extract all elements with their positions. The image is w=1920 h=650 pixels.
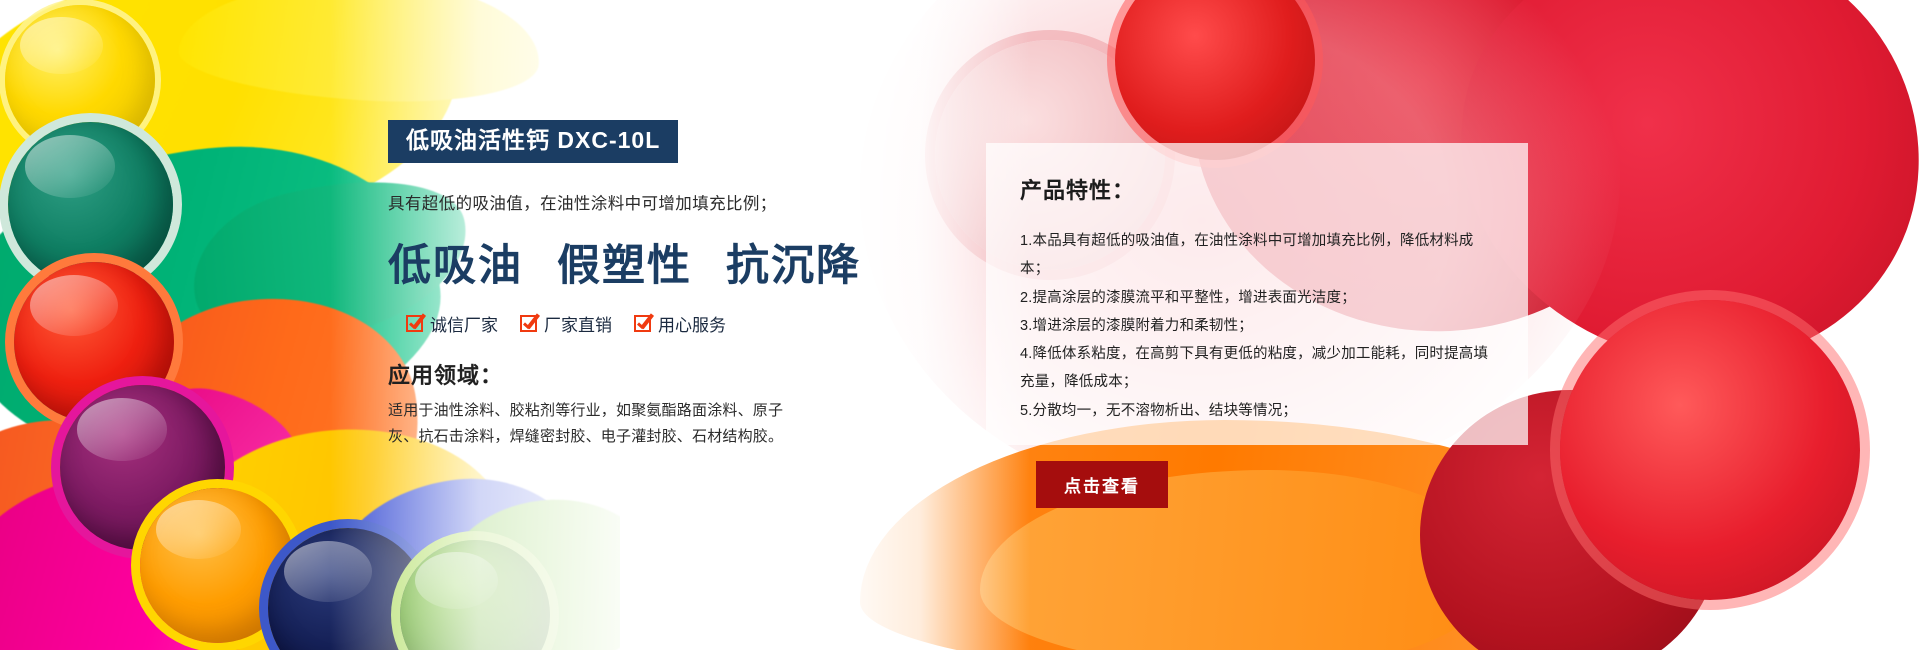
product-features-panel: 产品特性： 1.本品具有超低的吸油值，在油性涂料中可增加填充比例，降低材料成本；…	[986, 143, 1528, 445]
application-field-description: 适用于油性涂料、胶粘剂等行业，如聚氨酯路面涂料、原子灰、抗石击涂料，焊缝密封胶、…	[388, 398, 788, 451]
headline-word-1: 低吸油	[388, 241, 523, 291]
feature-item: 3.增进涂层的漆膜附着力和柔韧性；	[1020, 312, 1494, 340]
headline-word-3: 抗沉降	[726, 241, 861, 291]
features-panel-title: 产品特性：	[1020, 173, 1494, 205]
view-details-button[interactable]: 点击查看	[1036, 461, 1168, 508]
trust-badge-label: 用心服务	[658, 311, 726, 336]
trust-badge-row: 诚信厂家 厂家直销 用心服务	[406, 311, 908, 336]
promo-banner: 低吸油活性钙 DXC-10L 具有超低的吸油值，在油性涂料中可增加填充比例； 低…	[0, 0, 1920, 650]
trust-badge-item: 诚信厂家	[406, 311, 498, 336]
feature-item: 2.提高涂层的漆膜流平和平整性，增进表面光洁度；	[1020, 284, 1494, 312]
red-paint-dish-right	[1560, 300, 1860, 600]
trust-badge-label: 诚信厂家	[430, 311, 498, 336]
product-name-badge: 低吸油活性钙 DXC-10L	[388, 120, 678, 163]
check-box-icon	[520, 315, 537, 332]
feature-item: 4.降低体系粘度，在高剪下具有更低的粘度，减少加工能耗，同时提高填充量，降低成本…	[1020, 340, 1494, 397]
product-copy-block: 低吸油活性钙 DXC-10L 具有超低的吸油值，在油性涂料中可增加填充比例； 低…	[388, 120, 908, 451]
trust-badge-label: 厂家直销	[544, 311, 612, 336]
product-headline: 低吸油假塑性抗沉降	[388, 231, 908, 293]
feature-item: 1.本品具有超低的吸油值，在油性涂料中可增加填充比例，降低材料成本；	[1020, 227, 1494, 284]
headline-word-2: 假塑性	[557, 241, 692, 291]
feature-item: 5.分散均一，无不溶物析出、结块等情况；	[1020, 397, 1494, 425]
check-box-icon	[634, 315, 651, 332]
application-field-title: 应用领域：	[388, 358, 908, 390]
trust-badge-item: 用心服务	[634, 311, 726, 336]
check-box-icon	[406, 315, 423, 332]
product-subtitle: 具有超低的吸油值，在油性涂料中可增加填充比例；	[388, 190, 908, 214]
trust-badge-item: 厂家直销	[520, 311, 612, 336]
features-list: 1.本品具有超低的吸油值，在油性涂料中可增加填充比例，降低材料成本； 2.提高涂…	[1020, 227, 1494, 425]
